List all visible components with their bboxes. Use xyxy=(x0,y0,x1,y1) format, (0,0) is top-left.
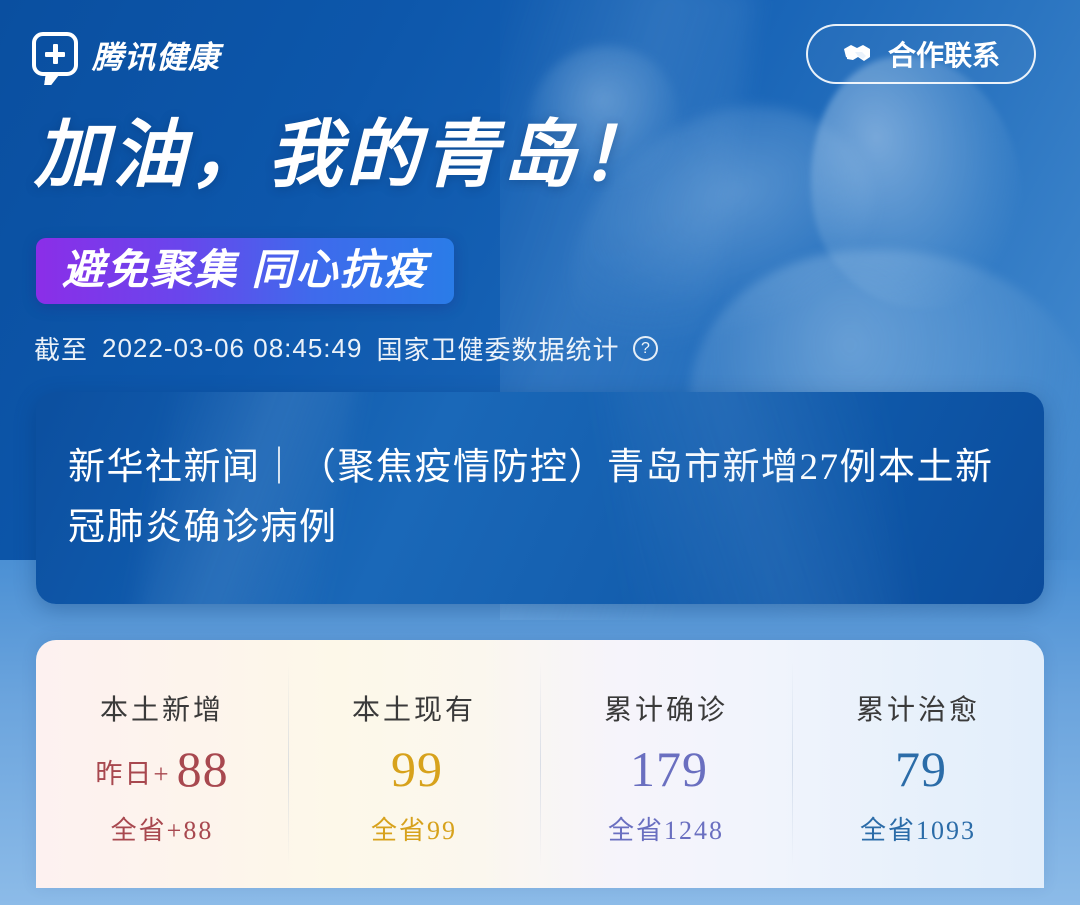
stat-value: 79 xyxy=(895,744,947,794)
contact-button[interactable]: 合作联系 xyxy=(806,24,1036,84)
brand-name: 腾讯健康 xyxy=(92,32,220,77)
news-banner[interactable]: 新华社新闻｜（聚焦疫情防控）青岛市新增27例本土新冠肺炎确诊病例 xyxy=(36,392,1044,604)
contact-button-label: 合作联系 xyxy=(888,34,1000,74)
stat-main-value: 79 xyxy=(889,744,947,794)
stat-column-total-recovered[interactable]: 累计治愈 79 全省1093 xyxy=(792,640,1044,888)
brand-logo[interactable]: 腾讯健康 xyxy=(32,32,220,77)
meta-prefix: 截至 xyxy=(34,330,88,367)
stat-subvalue: 全省99 xyxy=(371,810,457,847)
stat-subvalue: 全省+88 xyxy=(111,810,214,847)
stat-label: 本土新增 xyxy=(100,688,224,728)
page-header: 腾讯健康 合作联系 xyxy=(0,0,1080,108)
stat-prefix: 昨日+ xyxy=(95,761,170,794)
question-mark-icon[interactable]: ? xyxy=(633,336,658,361)
data-timestamp-row: 截至 2022-03-06 08:45:49 国家卫健委数据统计 ? xyxy=(34,330,658,367)
hero-title: 加油，我的青岛！ xyxy=(34,118,658,192)
stat-subvalue: 全省1093 xyxy=(860,810,976,847)
stat-main-value: 99 xyxy=(385,744,443,794)
stat-column-local-new[interactable]: 本土新增 昨日+ 88 全省+88 xyxy=(36,640,288,888)
handshake-icon xyxy=(842,41,876,67)
stat-value: 179 xyxy=(630,744,708,794)
news-headline: 新华社新闻｜（聚焦疫情防控）青岛市新增27例本土新冠肺炎确诊病例 xyxy=(36,438,1044,558)
chat-bubble-plus-icon xyxy=(32,32,78,76)
stat-label: 累计确诊 xyxy=(604,688,728,728)
meta-timestamp: 2022-03-06 08:45:49 xyxy=(102,333,362,364)
covid-dashboard-page: 腾讯健康 合作联系 加油，我的青岛！ 避免聚集 同心抗疫 截至 2022-03-… xyxy=(0,0,1080,905)
stat-main-value: 179 xyxy=(624,744,708,794)
stat-value: 88 xyxy=(177,744,229,794)
stat-main-value: 昨日+ 88 xyxy=(95,744,228,794)
stat-column-total-confirmed[interactable]: 累计确诊 179 全省1248 xyxy=(540,640,792,888)
stat-column-local-current[interactable]: 本土现有 99 全省99 xyxy=(288,640,540,888)
stat-label: 本土现有 xyxy=(352,688,476,728)
statistics-card: 本土新增 昨日+ 88 全省+88 本土现有 99 全省99 累计确诊 179 … xyxy=(36,640,1044,888)
hero-slogan-badge: 避免聚集 同心抗疫 xyxy=(36,238,454,304)
stat-label: 累计治愈 xyxy=(856,688,980,728)
stat-subvalue: 全省1248 xyxy=(608,810,724,847)
stat-value: 99 xyxy=(391,744,443,794)
meta-source: 国家卫健委数据统计 xyxy=(376,330,619,367)
